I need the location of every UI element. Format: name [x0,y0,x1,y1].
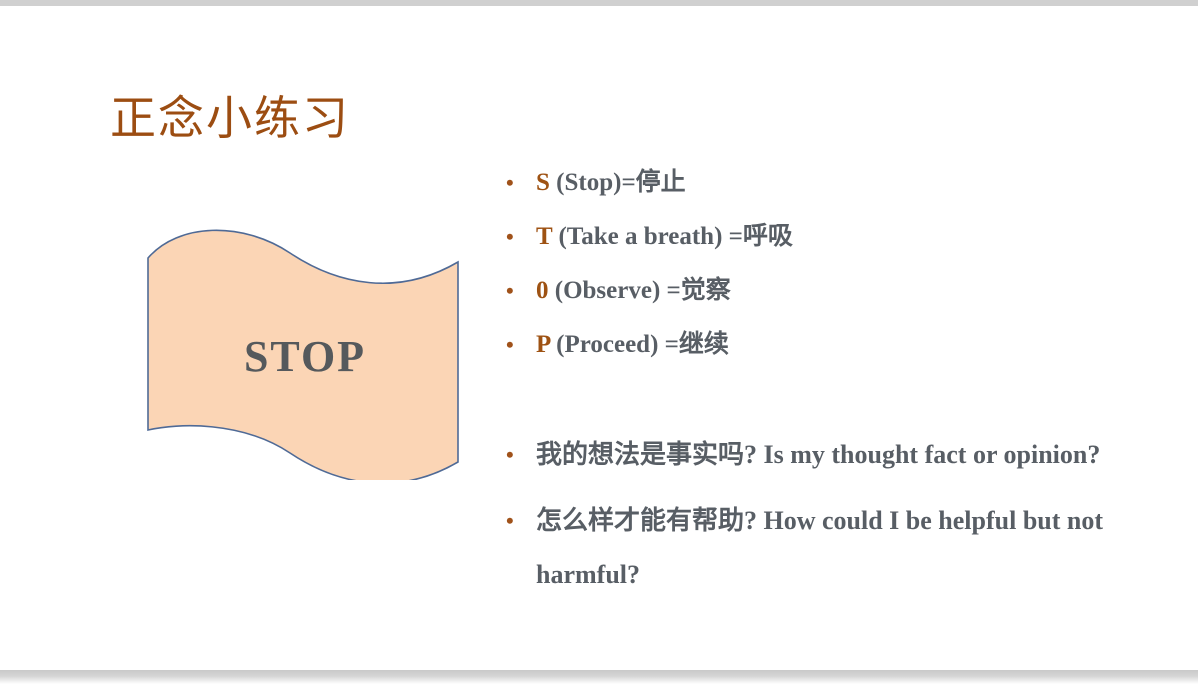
list-item-text: T (Take a breath) =呼吸 [536,216,1160,258]
slide-bottom-edge-bar [0,670,1198,684]
list-item-text: 我的想法是事实吗? Is my thought fact or opinion? [536,428,1160,482]
page-title: 正念小练习 [110,92,350,145]
list-item: • S (Stop)=停止 [500,162,1160,216]
bullet-marker-icon: • [500,216,536,258]
bullet-marker-icon: • [500,162,536,204]
acronym-definition: (Stop)=停止 [550,169,686,196]
acronym-bullet-list: • S (Stop)=停止 • T (Take a breath) =呼吸 • … [500,162,1160,378]
bullet-marker-icon: • [500,494,536,548]
stop-banner-label: STOP [130,331,480,382]
stop-banner: STOP [130,215,480,480]
acronym-letter: T [536,223,552,250]
acronym-letter: 0 [536,277,549,304]
question-bullet-list: • 我的想法是事实吗? Is my thought fact or opinio… [500,428,1160,614]
list-item-text: P (Proceed) =继续 [536,324,1160,366]
acronym-letter: P [536,331,550,358]
list-item: • P (Proceed) =继续 [500,324,1160,378]
list-item-text: 0 (Observe) =觉察 [536,270,1160,312]
list-item: • T (Take a breath) =呼吸 [500,216,1160,270]
acronym-definition: (Proceed) =继续 [550,331,729,358]
list-item: • 我的想法是事实吗? Is my thought fact or opinio… [500,428,1160,482]
list-item-text: 怎么样才能有帮助? How could I be helpful but not… [536,494,1160,602]
acronym-letter: S [536,169,550,196]
bullet-marker-icon: • [500,324,536,366]
list-item: • 0 (Observe) =觉察 [500,270,1160,324]
acronym-definition: (Observe) =觉察 [549,277,731,304]
slide-top-edge-bar [0,0,1198,6]
list-item: • 怎么样才能有帮助? How could I be helpful but n… [500,494,1160,602]
list-item-text: S (Stop)=停止 [536,162,1160,204]
acronym-definition: (Take a breath) =呼吸 [552,223,793,250]
presentation-slide: 正念小练习 STOP • S (Stop)=停止 • T (Take a bre… [0,0,1198,684]
bullet-marker-icon: • [500,270,536,312]
bullet-marker-icon: • [500,428,536,482]
